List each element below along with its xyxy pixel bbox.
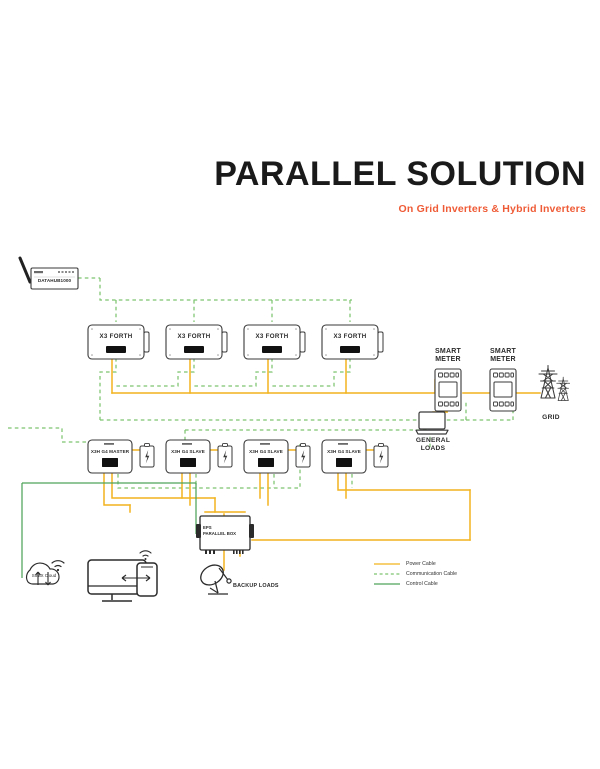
datahub-device bbox=[20, 258, 78, 289]
smart-meter-1 bbox=[435, 369, 461, 411]
phone-wifi-icon bbox=[140, 551, 151, 560]
hybrid-inverter-1 bbox=[88, 440, 154, 473]
eps-parallel-box bbox=[196, 516, 254, 554]
phone-icon bbox=[137, 563, 157, 596]
grid-inverter-1 bbox=[88, 325, 149, 359]
solax-cloud-icon bbox=[27, 563, 59, 585]
diagram-page: PARALLEL SOLUTION On Grid Inverters & Hy… bbox=[0, 0, 600, 769]
smart-meter-2 bbox=[490, 369, 516, 411]
hybrid-inverter-4 bbox=[322, 440, 388, 473]
antenna-icon bbox=[20, 258, 30, 282]
grid-towers bbox=[539, 366, 570, 401]
grid-inverter-2 bbox=[166, 325, 227, 359]
hybrid-inverter-2 bbox=[166, 440, 232, 473]
hybrid-inverter-3 bbox=[244, 440, 310, 473]
backup-loads-dish bbox=[197, 561, 231, 594]
general-loads-laptop bbox=[416, 412, 448, 434]
diagram-canvas bbox=[0, 0, 600, 769]
legend-swatches bbox=[374, 564, 400, 584]
grid-inverter-3 bbox=[244, 325, 305, 359]
grid-inverter-4 bbox=[322, 325, 383, 359]
